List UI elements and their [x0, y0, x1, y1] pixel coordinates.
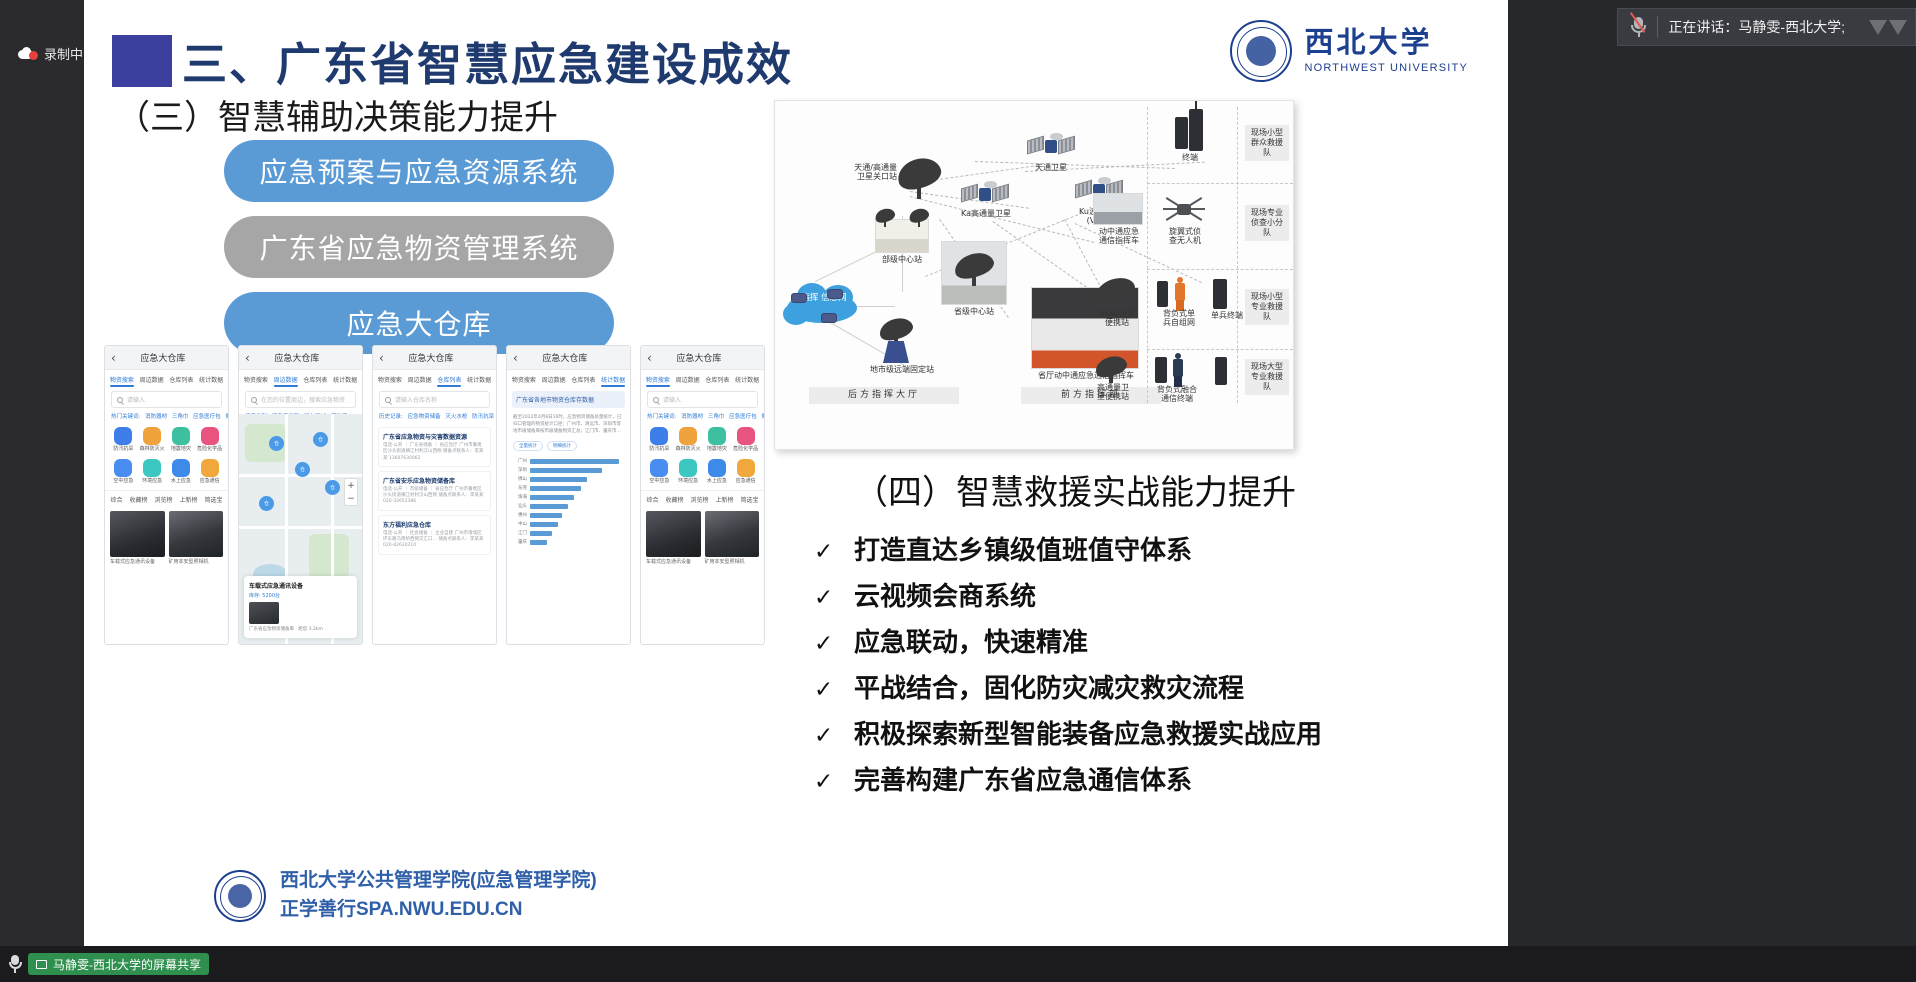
- footer-line-1: 西北大学公共管理学院(应急管理学院): [280, 867, 597, 896]
- tab-material-search[interactable]: 物资搜索: [110, 375, 134, 384]
- category-item[interactable]: 应急通信: [196, 459, 223, 485]
- bullet-text: 云视频会商系统: [854, 576, 1036, 613]
- page-title: 三、广东省智慧应急建设成效: [182, 28, 793, 93]
- section4-bullet-list: ✓ 打造直达乡镇级值班值守体系 ✓ 云视频会商系统 ✓ 应急联动，快速精准 ✓ …: [814, 530, 1474, 806]
- phone-mockup-search: ‹ 应急大仓库 物资搜索 周边数据 仓库列表 统计数据 请输入 热门关键词: 消…: [104, 345, 229, 645]
- phone-title: 应急大仓库: [250, 351, 344, 364]
- map-marker[interactable]: 仓: [325, 480, 340, 495]
- bullet-text: 完善构建广东省应急通信体系: [854, 760, 1192, 797]
- hot-keywords: 热门关键词: 消防器材 三角巾 应急医疗包 救生衣: [641, 412, 764, 423]
- phone-title: 应急大仓库: [518, 351, 612, 364]
- warehouse-meta: 电话·公开 ｜ 广东省储备 ｜ 省应急厅 广州市番禺区沙头街道横江村利汉山西侧 …: [383, 443, 486, 462]
- check-icon: ✓: [814, 584, 836, 611]
- recording-indicator[interactable]: 录制中: [18, 44, 83, 63]
- category-label: 环境应急: [675, 479, 702, 485]
- history-label: 历史记录:: [379, 414, 403, 420]
- category-label: 森林防灭火: [675, 447, 702, 453]
- bar-label: 佛山: [513, 476, 527, 482]
- label-city-station: 地市级远端固定站: [853, 365, 951, 374]
- phone-tabs: 物资搜索 周边数据 仓库列表 统计数据: [239, 370, 362, 387]
- taskbar-icons: 马静雯-西北大学的屏幕共享: [0, 953, 209, 975]
- chart-note: 截至2022年4月8日16时，应急物资储备总量统计，已归口管理的物资统计口径：广…: [507, 412, 630, 438]
- rank-tab-new[interactable]: 上新榜: [715, 495, 733, 504]
- label-province-vehicle: 省厅动中通应急通信指挥车: [1019, 371, 1153, 380]
- footer-seal-icon: [214, 870, 266, 922]
- bar-label: 中山: [513, 521, 527, 527]
- check-icon: ✓: [814, 722, 836, 749]
- product-name: 矿用本安型照相机: [169, 560, 224, 566]
- tab-warehouse-list[interactable]: 仓库列表: [303, 375, 327, 384]
- search-placeholder: 在您的位置周边，搜索应急物资: [261, 395, 345, 404]
- bar-row: 佛山: [513, 476, 624, 482]
- system-pill-list: 应急预案与应急资源系统 广东省应急物资管理系统 应急大仓库: [224, 140, 614, 368]
- label-field-large-pro-team: 现场大型 专业救援 队: [1245, 359, 1289, 395]
- tab-statistics[interactable]: 统计数据: [199, 375, 223, 384]
- backpack-fusion-icon: [1171, 353, 1185, 387]
- check-icon: ✓: [814, 676, 836, 703]
- category-label: 空中应急: [110, 479, 137, 485]
- list-item[interactable]: 广东省安乐应急物资储备库 电话·公开 ｜ 市级储备 ｜ 省应急厅 广州市番禺区沙…: [378, 471, 491, 511]
- tab-material-search[interactable]: 物资搜索: [512, 375, 536, 384]
- label-satellite-tiantong: 天通卫星: [1019, 163, 1083, 172]
- taskbar: 马静雯-西北大学的屏幕共享: [0, 946, 1916, 982]
- label-gateway-station: 天通/高通量 卫星关口站: [823, 163, 897, 181]
- list-item[interactable]: 广东省应急物资与灾害数据资源 电话·公开 ｜ 广东省储备 ｜ 省应急厅 广州市番…: [378, 427, 491, 467]
- search-input[interactable]: 在您的位置周边，搜索应急物资: [245, 391, 356, 408]
- active-speaker-label: 正在讲话：马静雯-西北大学;: [1668, 17, 1845, 37]
- label-drone: 旋翼式侦 查无人机: [1157, 227, 1213, 245]
- map-zoom-controls[interactable]: +−: [344, 478, 358, 506]
- collapse-icon[interactable]: [1855, 20, 1907, 35]
- product-list: 车载式应急通讯设备 矿用本安型照相机: [105, 507, 228, 570]
- tab-nearby-data[interactable]: 周边数据: [542, 375, 566, 384]
- check-icon: ✓: [814, 768, 836, 795]
- bar-row: 深圳: [513, 467, 624, 473]
- terminal-device-icon: [1175, 117, 1188, 149]
- label-rear-command: 后方指挥大厅: [809, 387, 959, 404]
- card-stock: 库存: 5200台: [249, 592, 352, 599]
- phone-title: 应急大仓库: [384, 351, 478, 364]
- university-seal-icon: [1230, 20, 1292, 82]
- map-canvas[interactable]: 仓 仓 仓 仓 仓 +− 车载式应急通讯设备 库存: 5200台 广东省应急物资…: [239, 414, 362, 644]
- tab-nearby-data[interactable]: 周边数据: [274, 375, 298, 384]
- category-item[interactable]: 防汛抗旱: [646, 427, 673, 453]
- card-tag: 广东省应急物资储备库 · 距您 3.2km: [249, 627, 352, 633]
- map-detail-card[interactable]: 车载式应急通讯设备 库存: 5200台 广东省应急物资储备库 · 距您 3.2k…: [244, 576, 357, 638]
- bar-label: 东莞: [513, 485, 527, 491]
- drone-icon: [1161, 197, 1207, 223]
- phone-tabs: 物资搜索 周边数据 仓库列表 统计数据: [507, 370, 630, 387]
- category-label: 空中应急: [646, 479, 673, 485]
- category-item[interactable]: 危险化学品: [196, 427, 223, 453]
- rank-tab-select[interactable]: 简选宝: [740, 495, 758, 504]
- rank-tab-all[interactable]: 综合: [646, 495, 658, 504]
- bullet-item: ✓ 应急联动，快速精准: [814, 622, 1474, 659]
- satellite-icon-tiantong: [1027, 131, 1075, 161]
- warehouse-name: 广东省安乐应急物资储备库: [383, 476, 486, 485]
- category-item[interactable]: 森林防灭火: [675, 427, 702, 453]
- divider: [1657, 16, 1658, 38]
- bar-row: 汕头: [513, 503, 624, 509]
- screen-share-chip[interactable]: 马静雯-西北大学的屏幕共享: [28, 953, 209, 975]
- slide-subtitle: （三）智慧辅助决策能力提升: [116, 90, 558, 139]
- rank-tab-select[interactable]: 简选宝: [204, 495, 222, 504]
- footer-line-2: 正学善行SPA.NWU.EDU.CN: [280, 896, 597, 925]
- province-station-photo: [941, 241, 1007, 305]
- tab-warehouse-list[interactable]: 仓库列表: [571, 375, 595, 384]
- product-name: 车载式应急通讯设备: [646, 560, 701, 566]
- chart-title: 广东省各地市物资仓库存数据: [512, 391, 625, 408]
- warehouse-meta: 电话·公开 ｜ 社会储备 ｜ 企业自建 广州市增城区环东路乌南桥西侧交汇口… 储…: [383, 531, 486, 550]
- chip-detail[interactable]: 明细统计: [547, 441, 577, 451]
- search-input[interactable]: 请输入: [111, 391, 222, 408]
- label-vsat-portable: VSAT卫星 便携站: [1087, 309, 1147, 327]
- university-name-cn: 西北大学: [1304, 28, 1468, 57]
- bar-label: 汕头: [513, 503, 527, 509]
- bar-label: 珠海: [513, 494, 527, 500]
- warehouse-name: 东方福利应急仓库: [383, 520, 486, 529]
- left-rail: [0, 0, 84, 982]
- category-label: 水上应急: [168, 479, 195, 485]
- phone-mockup-search-2: ‹ 应急大仓库 物资搜索 周边数据 仓库列表 统计数据 请输入 热门关键词: 消…: [640, 345, 765, 645]
- category-item[interactable]: 水上应急: [168, 459, 195, 485]
- bullet-item: ✓ 完善构建广东省应急通信体系: [814, 760, 1474, 797]
- tab-warehouse-list[interactable]: 仓库列表: [169, 375, 193, 384]
- slide-footer: 西北大学公共管理学院(应急管理学院) 正学善行SPA.NWU.EDU.CN: [214, 867, 597, 924]
- bar-row: 江门: [513, 530, 624, 536]
- pill-label: 应急预案与应急资源系统: [259, 151, 578, 191]
- search-placeholder: 请输入仓库名称: [395, 395, 437, 404]
- gateway-dish-icon: [897, 159, 941, 199]
- label-field-public-team: 现场小型 群众救援 队: [1245, 125, 1289, 161]
- rank-tab-all[interactable]: 综合: [110, 495, 122, 504]
- university-name-en: NORTHWEST UNIVERSITY: [1304, 62, 1468, 74]
- map-marker[interactable]: 仓: [269, 436, 284, 451]
- screen-icon: [36, 960, 47, 969]
- category-label: 地震地灾: [168, 447, 195, 453]
- bullet-item: ✓ 积极探索新型智能装备应急救援实战应用: [814, 714, 1474, 751]
- satellite-icon-ka: [961, 179, 1009, 209]
- slide-title-row: 三、广东省智慧应急建设成效: [112, 28, 793, 93]
- category-item[interactable]: 森林防灭火: [139, 427, 166, 453]
- category-item[interactable]: 应急通信: [732, 459, 759, 485]
- rank-tab-views[interactable]: 浏览榜: [690, 495, 708, 504]
- search-placeholder: 请输入: [127, 395, 145, 404]
- label-backpack-mesh: 背负式单 兵自组网: [1151, 309, 1207, 327]
- tab-statistics[interactable]: 统计数据: [735, 375, 759, 384]
- bar-label: 广州: [513, 458, 527, 464]
- search-input[interactable]: 请输入仓库名称: [379, 391, 490, 408]
- title-accent-block: [112, 35, 172, 87]
- category-grid: 防汛抗旱 森林防灭火 地震地灾 危险化学品 空中应急 环境应急 水上应急 应急通…: [641, 423, 764, 488]
- list-item[interactable]: 东方福利应急仓库 电话·公开 ｜ 社会储备 ｜ 企业自建 广州市增城区环东路乌南…: [378, 515, 491, 555]
- category-item[interactable]: 地震地灾: [168, 427, 195, 453]
- check-icon: ✓: [814, 538, 836, 565]
- search-icon: [385, 397, 391, 403]
- bullet-text: 平战结合，固化防灾减灾救灾流程: [854, 668, 1244, 705]
- phone-mockup-list: ‹ 应急大仓库 物资搜索 周边数据 仓库列表 统计数据 请输入仓库名称 历史记录…: [372, 345, 497, 645]
- tab-nearby-data[interactable]: 周边数据: [676, 375, 700, 384]
- hot-label: 热门关键词:: [111, 414, 140, 420]
- tab-material-search[interactable]: 物资搜索: [378, 375, 402, 384]
- search-icon: [117, 397, 123, 403]
- bar-chart: 广州 深圳 佛山 东莞 珠海 汕头 惠州 中山 江门 肇庆: [507, 454, 630, 552]
- category-item[interactable]: 地震地灾: [704, 427, 731, 453]
- phone-mockup-map: ‹ 应急大仓库 物资搜索 周边数据 仓库列表 统计数据 在您的位置周边，搜索应急…: [238, 345, 363, 645]
- rank-tab-fav[interactable]: 收藏榜: [129, 495, 147, 504]
- search-placeholder: 请输入: [663, 395, 681, 404]
- mic-icon[interactable]: [8, 955, 22, 973]
- soldier-terminal-icon: [1213, 279, 1227, 309]
- category-label: 环境应急: [139, 479, 166, 485]
- bar-label: 深圳: [513, 467, 527, 473]
- category-label: 地震地灾: [704, 447, 731, 453]
- pill-material-management[interactable]: 广东省应急物资管理系统: [224, 216, 614, 278]
- card-title: 车载式应急通讯设备: [249, 581, 352, 590]
- label-terminal: 终端: [1165, 153, 1215, 162]
- hot-word[interactable]: 救生衣: [225, 414, 228, 420]
- recording-label: 录制中: [44, 44, 83, 63]
- pill-label: 广东省应急物资管理系统: [259, 227, 578, 267]
- hot-word[interactable]: 救生衣: [761, 414, 764, 420]
- bullet-item: ✓ 云视频会商系统: [814, 576, 1474, 613]
- category-label: 应急通信: [732, 479, 759, 485]
- product-card[interactable]: 矿用本安型照相机: [705, 511, 760, 566]
- rank-tab-views[interactable]: 浏览榜: [154, 495, 172, 504]
- product-card[interactable]: 车载式应急通讯设备: [110, 511, 165, 566]
- rank-tabs: 综合 收藏榜 浏览榜 上新榜 简选宝: [641, 490, 764, 507]
- tab-warehouse-list[interactable]: 仓库列表: [437, 375, 461, 384]
- university-logo: 西北大学 NORTHWEST UNIVERSITY: [1230, 20, 1468, 82]
- warehouse-meta: 电话·公开 ｜ 市级储备 ｜ 省应急厅 广州市番禺区沙头街道横江村利汉山西侧 储…: [383, 487, 486, 506]
- command-vehicle-photo: [1093, 193, 1143, 225]
- tab-statistics[interactable]: 统计数据: [467, 375, 491, 384]
- hot-label: 热门关键词:: [647, 414, 676, 420]
- category-label: 防汛抗旱: [646, 447, 673, 453]
- hot-word[interactable]: 应急医疗包: [193, 414, 221, 420]
- chip-total[interactable]: 全量统计: [513, 441, 543, 451]
- zoom-in-icon[interactable]: +: [347, 481, 355, 491]
- tab-nearby-data[interactable]: 周边数据: [408, 375, 432, 384]
- cloud-recording-icon: [18, 47, 38, 61]
- rank-tabs: 综合 收藏榜 浏览榜 上新榜 简选宝: [105, 490, 228, 507]
- phone-header: ‹ 应急大仓库: [373, 346, 496, 370]
- category-label: 水上应急: [704, 479, 731, 485]
- search-input[interactable]: 请输入: [647, 391, 758, 408]
- bullet-item: ✓ 打造直达乡镇级值班值守体系: [814, 530, 1474, 567]
- warehouse-name: 广东省应急物资与灾害数据资源: [383, 432, 486, 441]
- search-history: 历史记录: 应急物资储备 灭火水枪 防汛抗旱: [373, 412, 496, 423]
- bullet-text: 积极探索新型智能装备应急救援实战应用: [854, 714, 1322, 751]
- hot-word[interactable]: 三角巾: [172, 414, 189, 420]
- rank-tab-new[interactable]: 上新榜: [179, 495, 197, 504]
- search-icon: [251, 397, 257, 403]
- history-item[interactable]: 防汛抗旱: [472, 414, 494, 420]
- label-field-recon-team: 现场专业 侦查小分 队: [1245, 205, 1289, 241]
- product-name: 车载式应急通讯设备: [110, 560, 165, 566]
- bar-label: 肇庆: [513, 539, 527, 545]
- tab-nearby-data[interactable]: 周边数据: [140, 375, 164, 384]
- map-marker[interactable]: 仓: [259, 496, 274, 511]
- phone-tabs: 物资搜索 周边数据 仓库列表 统计数据: [373, 370, 496, 387]
- bar-row: 珠海: [513, 494, 624, 500]
- product-list: 车载式应急通讯设备 矿用本安型照相机: [641, 507, 764, 570]
- category-label: 危险化学品: [732, 447, 759, 453]
- hot-word[interactable]: 三角巾: [708, 414, 725, 420]
- search-icon: [653, 397, 659, 403]
- label-backpack-fusion: 背负式融合 通信终端: [1147, 385, 1207, 403]
- zoom-app-window: 录制中 三、广东省智慧应急建设成效 （三）智慧辅助决策能力提升 西北大学 NOR…: [0, 0, 1916, 982]
- category-item[interactable]: 环境应急: [139, 459, 166, 485]
- phone-header: ‹ 应急大仓库: [239, 346, 362, 370]
- check-icon: ✓: [814, 630, 836, 657]
- ka-portable-icon: [1095, 357, 1127, 383]
- label-province-station: 省级中心站: [940, 307, 1008, 316]
- mic-muted-icon[interactable]: [1630, 16, 1647, 38]
- label-satellite-ka: Ka高通量卫星: [945, 209, 1027, 218]
- backpack-soldier-icon: [1173, 277, 1187, 311]
- card-thumbnail: [249, 602, 279, 624]
- category-item[interactable]: 空中应急: [110, 459, 137, 485]
- bullet-text: 打造直达乡镇级值班值守体系: [854, 530, 1192, 567]
- bar-label: 江门: [513, 530, 527, 536]
- phone-mockup-strip: ‹ 应急大仓库 物资搜索 周边数据 仓库列表 统计数据 请输入 热门关键词: 消…: [104, 345, 765, 645]
- satellite-network-diagram: 天通/高通量 卫星关口站 天通卫星 Ka高通量卫星 Ku波段卫星 (VSAT) …: [774, 100, 1294, 450]
- hot-keywords: 热门关键词: 消防器材 三角巾 应急医疗包 救生衣: [105, 412, 228, 423]
- history-item[interactable]: 应急物资储备: [408, 414, 441, 420]
- screen-share-label: 马静雯-西北大学的屏幕共享: [53, 956, 201, 973]
- category-item[interactable]: 环境应急: [675, 459, 702, 485]
- bar-row: 东莞: [513, 485, 624, 491]
- map-marker[interactable]: 仓: [313, 432, 328, 447]
- product-card[interactable]: 车载式应急通讯设备: [646, 511, 701, 566]
- phone-header: ‹ 应急大仓库: [641, 346, 764, 370]
- hot-word[interactable]: 消防器材: [681, 414, 703, 420]
- bullet-text: 应急联动，快速精准: [854, 622, 1088, 659]
- history-item[interactable]: 灭火水枪: [445, 414, 467, 420]
- pill-emergency-plan[interactable]: 应急预案与应急资源系统: [224, 140, 614, 202]
- bullet-item: ✓ 平战结合，固化防灾减灾救灾流程: [814, 668, 1474, 705]
- bar-row: 中山: [513, 521, 624, 527]
- bar-row: 惠州: [513, 512, 624, 518]
- tab-statistics[interactable]: 统计数据: [601, 375, 625, 384]
- phone-tabs: 物资搜索 周边数据 仓库列表 统计数据: [105, 370, 228, 387]
- chart-mode-chips: 全量统计 明细统计: [507, 438, 630, 454]
- category-item[interactable]: 空中应急: [646, 459, 673, 485]
- tab-statistics[interactable]: 统计数据: [333, 375, 357, 384]
- category-item[interactable]: 危险化学品: [732, 427, 759, 453]
- category-item[interactable]: 防汛抗旱: [110, 427, 137, 453]
- active-speaker-indicator[interactable]: 正在讲话：马静雯-西北大学;: [1617, 8, 1916, 46]
- bar-row: 肇庆: [513, 539, 624, 545]
- tab-material-search[interactable]: 物资搜索: [244, 375, 268, 384]
- section4-title: （四）智慧救援实战能力提升: [854, 465, 1296, 514]
- label-ka-portable: 高通量卫 星便携站: [1085, 383, 1141, 401]
- bar-row: 广州: [513, 458, 624, 464]
- category-label: 防汛抗旱: [110, 447, 137, 453]
- label-field-small-pro-team: 现场小型 专业救援 队: [1245, 289, 1289, 325]
- phone-header: ‹ 应急大仓库: [507, 346, 630, 370]
- phone-tabs: 物资搜索 周边数据 仓库列表 统计数据: [641, 370, 764, 387]
- pill-label: 应急大仓库: [346, 303, 491, 343]
- map-marker[interactable]: 仓: [295, 462, 310, 477]
- bar-label: 惠州: [513, 512, 527, 518]
- category-grid: 防汛抗旱 森林防灭火 地震地灾 危险化学品 空中应急 环境应急 水上应急 应急通…: [105, 423, 228, 488]
- phone-header: ‹ 应急大仓库: [105, 346, 228, 370]
- tab-warehouse-list[interactable]: 仓库列表: [705, 375, 729, 384]
- category-label: 危险化学品: [196, 447, 223, 453]
- product-card[interactable]: 矿用本安型照相机: [169, 511, 224, 566]
- command-network-cloud: 指挥 信息网: [783, 279, 865, 331]
- category-label: 应急通信: [196, 479, 223, 485]
- category-label: 森林防灭火: [139, 447, 166, 453]
- vsat-portable-icon: [1095, 279, 1135, 309]
- hot-word[interactable]: 消防器材: [145, 414, 167, 420]
- category-item[interactable]: 水上应急: [704, 459, 731, 485]
- zoom-out-icon[interactable]: −: [347, 494, 355, 504]
- label-soldier-terminal: 单兵终端: [1203, 311, 1251, 320]
- phone-mockup-stats: ‹ 应急大仓库 物资搜索 周边数据 仓库列表 统计数据 广东省各地市物资仓库存数…: [506, 345, 631, 645]
- phone-title: 应急大仓库: [652, 351, 746, 364]
- hot-word[interactable]: 应急医疗包: [729, 414, 757, 420]
- product-name: 矿用本安型照相机: [705, 560, 760, 566]
- rank-tab-fav[interactable]: 收藏榜: [665, 495, 683, 504]
- tab-material-search[interactable]: 物资搜索: [646, 375, 670, 384]
- label-command-vehicle: 动中通应急 通信指挥车: [1091, 227, 1147, 245]
- phone-title: 应急大仓库: [116, 351, 210, 364]
- satellite-phone-icon: [1189, 109, 1203, 151]
- shared-slide: 三、广东省智慧应急建设成效 （三）智慧辅助决策能力提升 西北大学 NORTHWE…: [84, 0, 1508, 946]
- label-ministry-station: 部级中心站: [871, 255, 933, 264]
